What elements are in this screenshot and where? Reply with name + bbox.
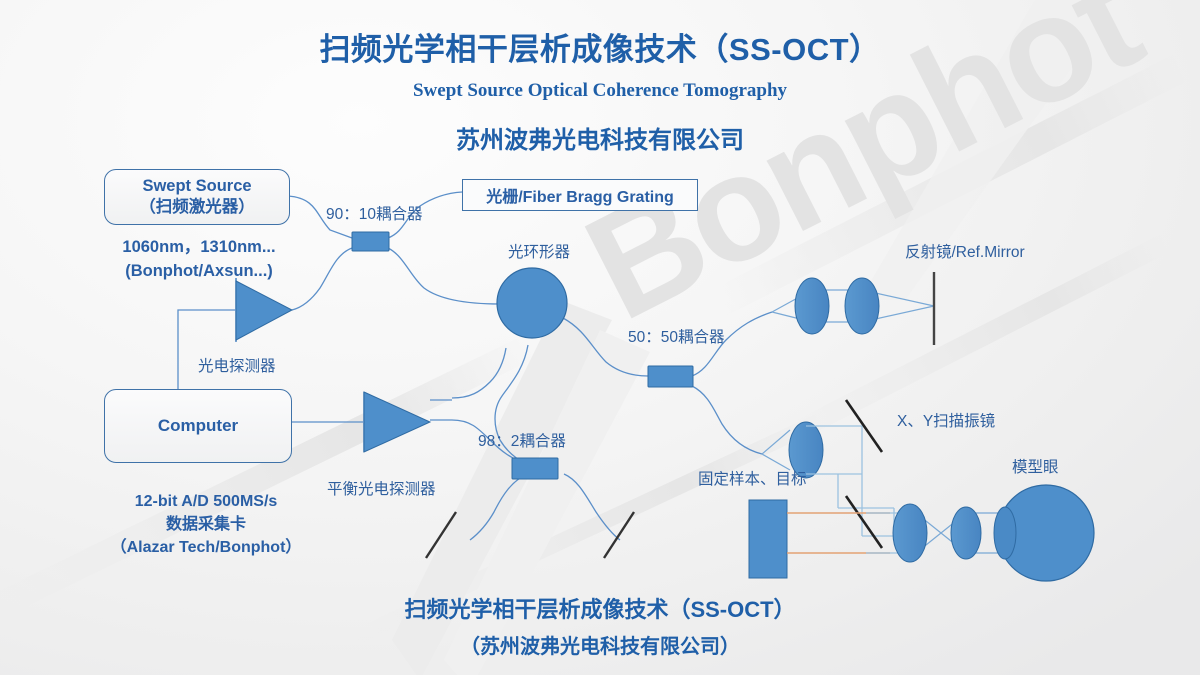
relay-lens xyxy=(951,507,981,559)
balanced-photodetector-label: 平衡光电探测器 xyxy=(327,477,436,499)
source-spec-line2: (Bonphot/Axsun...) xyxy=(100,260,298,284)
fixed-sample-label: 固定样本、目标 xyxy=(698,467,807,489)
source-spec-line1: 1060nm，1310nm... xyxy=(100,236,298,260)
balanced-photodetector-symbol xyxy=(290,392,452,452)
galvo-scanner-label: X、Y扫描振镜 xyxy=(897,409,995,431)
computer-label: Computer xyxy=(158,415,238,436)
optical-circulator-label: 光环形器 xyxy=(508,240,570,262)
coupler-98-2-body xyxy=(512,458,558,479)
swept-source-label-en: Swept Source xyxy=(142,176,251,197)
daq-line2: 数据采集卡 xyxy=(92,513,320,536)
model-eye-label: 模型眼 xyxy=(1012,455,1059,477)
ref-lens-1 xyxy=(795,278,829,334)
daq-spec-label: 12-bit A/D 500MS/s 数据采集卡 （Alazar Tech/Bo… xyxy=(92,490,320,560)
computer-box[interactable]: Computer xyxy=(104,389,292,463)
daq-line3: （Alazar Tech/Bonphot） xyxy=(92,536,320,559)
fbg-label: 光栅/Fiber Bragg Grating xyxy=(486,183,674,207)
swept-source-box[interactable]: Swept Source （扫频激光器） xyxy=(104,169,290,225)
fixed-sample-block xyxy=(749,500,787,578)
galvo-mirror-y xyxy=(846,496,882,548)
optical-circulator-body xyxy=(497,268,567,338)
coupler-90-10-body xyxy=(352,232,389,251)
coupler-50-50-label: 50：50耦合器 xyxy=(628,325,724,347)
source-spec-label: 1060nm，1310nm... (Bonphot/Axsun...) xyxy=(100,236,298,284)
fiber-bragg-grating-box[interactable]: 光栅/Fiber Bragg Grating xyxy=(462,179,698,211)
coupler-90-10-label: 90：10耦合器 xyxy=(326,202,422,224)
slide-canvas: Bonphot 扫频光学相干层析成像技术（SS-OCT） Swept Sourc… xyxy=(0,0,1200,675)
footer-caption-line1: 扫频光学相干层析成像技术（SS-OCT） xyxy=(0,592,1200,624)
reference-mirror-label: 反射镜/Ref.Mirror xyxy=(905,240,1025,262)
free-space-mirrors xyxy=(426,512,634,558)
coupler-50-50-body xyxy=(648,366,693,387)
objective-lens xyxy=(893,504,927,562)
swept-source-label-cn: （扫频激光器） xyxy=(139,197,255,218)
footer-caption-line2: （苏州波弗光电科技有限公司） xyxy=(0,630,1200,659)
coupler-98-2-label: 98：2耦合器 xyxy=(478,429,566,451)
model-eye-cornea xyxy=(994,507,1016,559)
photodetector-label: 光电探测器 xyxy=(198,354,276,376)
ref-lens-2 xyxy=(845,278,879,334)
daq-line1: 12-bit A/D 500MS/s xyxy=(92,490,320,513)
optical-diagram xyxy=(0,0,1200,675)
reference-arm xyxy=(772,272,934,345)
